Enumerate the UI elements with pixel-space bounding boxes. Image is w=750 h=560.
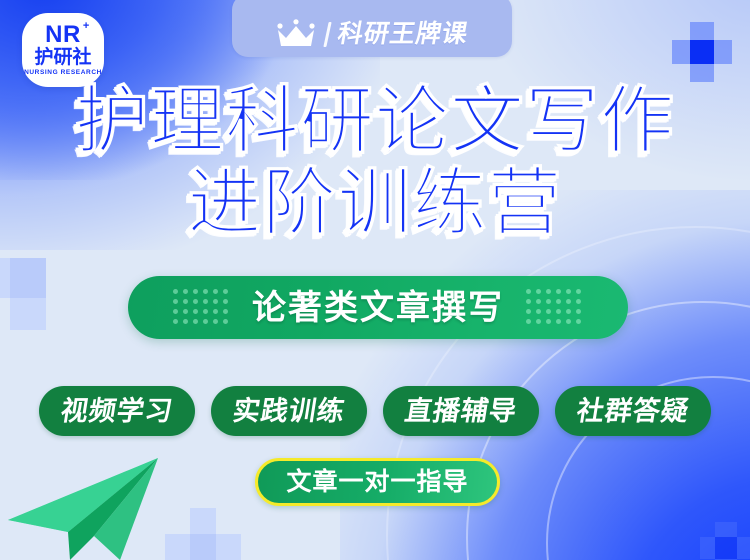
logo-name-cn: 护研社 xyxy=(34,48,91,68)
title-line-2: 进阶训练营 xyxy=(0,166,750,240)
crown-icon xyxy=(275,19,317,49)
logo-initials: NR+ xyxy=(45,23,81,47)
feature-tag-list: 视频学习 实践训练 直播辅导 社群答疑 xyxy=(0,386,750,436)
feature-tag-label: 实践训练 xyxy=(231,398,347,425)
feature-tag-community[interactable]: 社群答疑 xyxy=(555,386,711,436)
feature-tag-video[interactable]: 视频学习 xyxy=(39,386,195,436)
dot-grid-right-icon xyxy=(526,289,583,326)
plus-decoration-bottom-right xyxy=(700,522,750,560)
feature-tag-label: 视频学习 xyxy=(59,398,175,425)
plus-decoration-left xyxy=(0,258,46,330)
banner-divider xyxy=(324,22,332,47)
plus-decoration-top-right xyxy=(672,22,732,82)
promo-poster: NR+ 护研社 NURSING RESEARCH 科研王牌课 护理科研论文写作 … xyxy=(0,0,750,560)
brand-logo: NR+ 护研社 NURSING RESEARCH xyxy=(22,13,104,87)
feature-tag-label: 直播辅导 xyxy=(403,398,519,425)
paper-plane-icon xyxy=(8,446,193,560)
bottom-highlight-tag[interactable]: 文章一对一指导 xyxy=(255,458,500,506)
feature-tag-live[interactable]: 直播辅导 xyxy=(383,386,539,436)
dot-grid-left-icon xyxy=(173,289,230,326)
logo-name-en: NURSING RESEARCH xyxy=(24,70,102,77)
feature-tag-label: 社群答疑 xyxy=(575,398,691,425)
logo-initials-text: NR xyxy=(45,21,81,48)
logo-plus-icon: + xyxy=(83,21,90,32)
page-title: 护理科研论文写作 进阶训练营 xyxy=(0,84,750,240)
banner-label: 科研王牌课 xyxy=(336,22,470,47)
subject-pill-label: 论著类文章撰写 xyxy=(252,291,504,325)
bottom-highlight-tag-label: 文章一对一指导 xyxy=(286,470,468,495)
subject-pill: 论著类文章撰写 xyxy=(128,276,628,339)
title-line-1: 护理科研论文写作 xyxy=(0,84,750,158)
header-banner: 科研王牌课 xyxy=(232,0,512,57)
feature-tag-practice[interactable]: 实践训练 xyxy=(211,386,367,436)
